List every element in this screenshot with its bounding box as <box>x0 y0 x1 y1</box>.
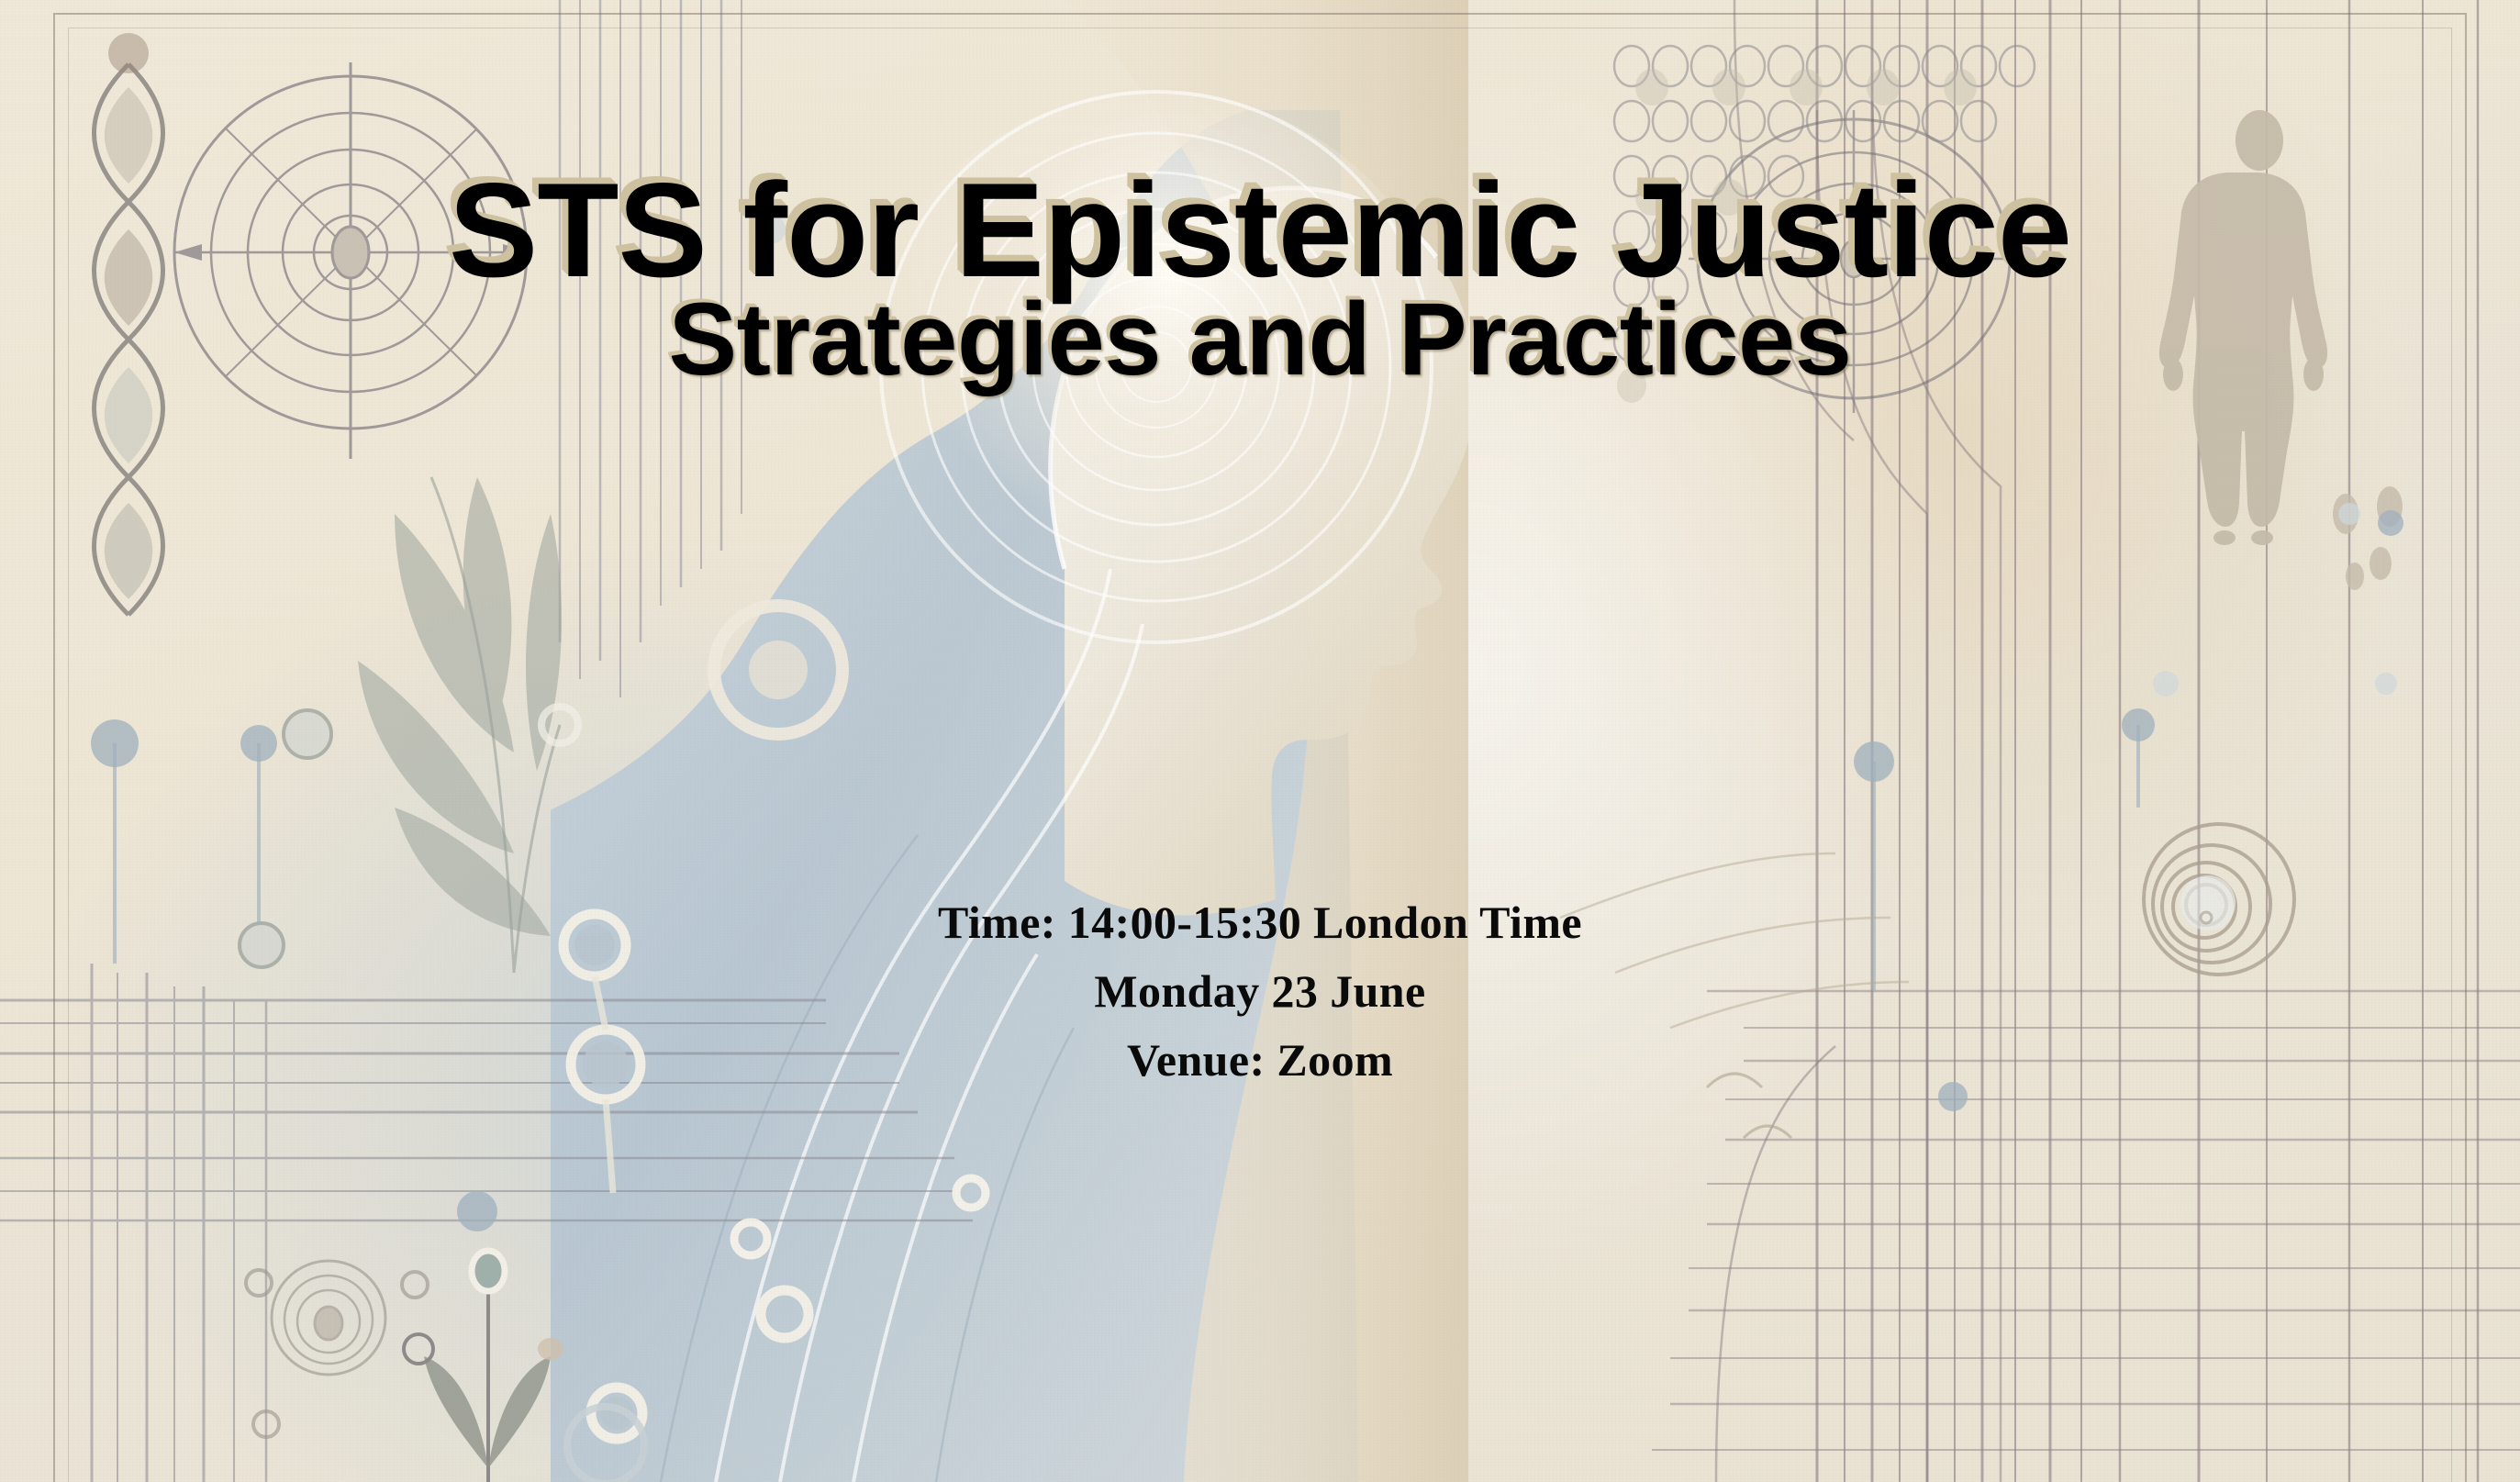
subtitle-container: Strategies and Practices <box>0 288 2520 391</box>
event-time: Time: 14:00-15:30 London Time <box>0 888 2520 957</box>
event-poster: STS for Epistemic Justice Strategies and… <box>0 0 2520 1482</box>
event-venue: Venue: Zoom <box>0 1026 2520 1095</box>
title-container: STS for Epistemic Justice <box>0 163 2520 297</box>
poster-text-layer: STS for Epistemic Justice Strategies and… <box>0 0 2520 1482</box>
page-title: STS for Epistemic Justice <box>449 163 2071 297</box>
page-subtitle: Strategies and Practices <box>668 288 1851 391</box>
event-date: Monday 23 June <box>0 957 2520 1026</box>
event-details: Time: 14:00-15:30 London Time Monday 23 … <box>0 888 2520 1095</box>
